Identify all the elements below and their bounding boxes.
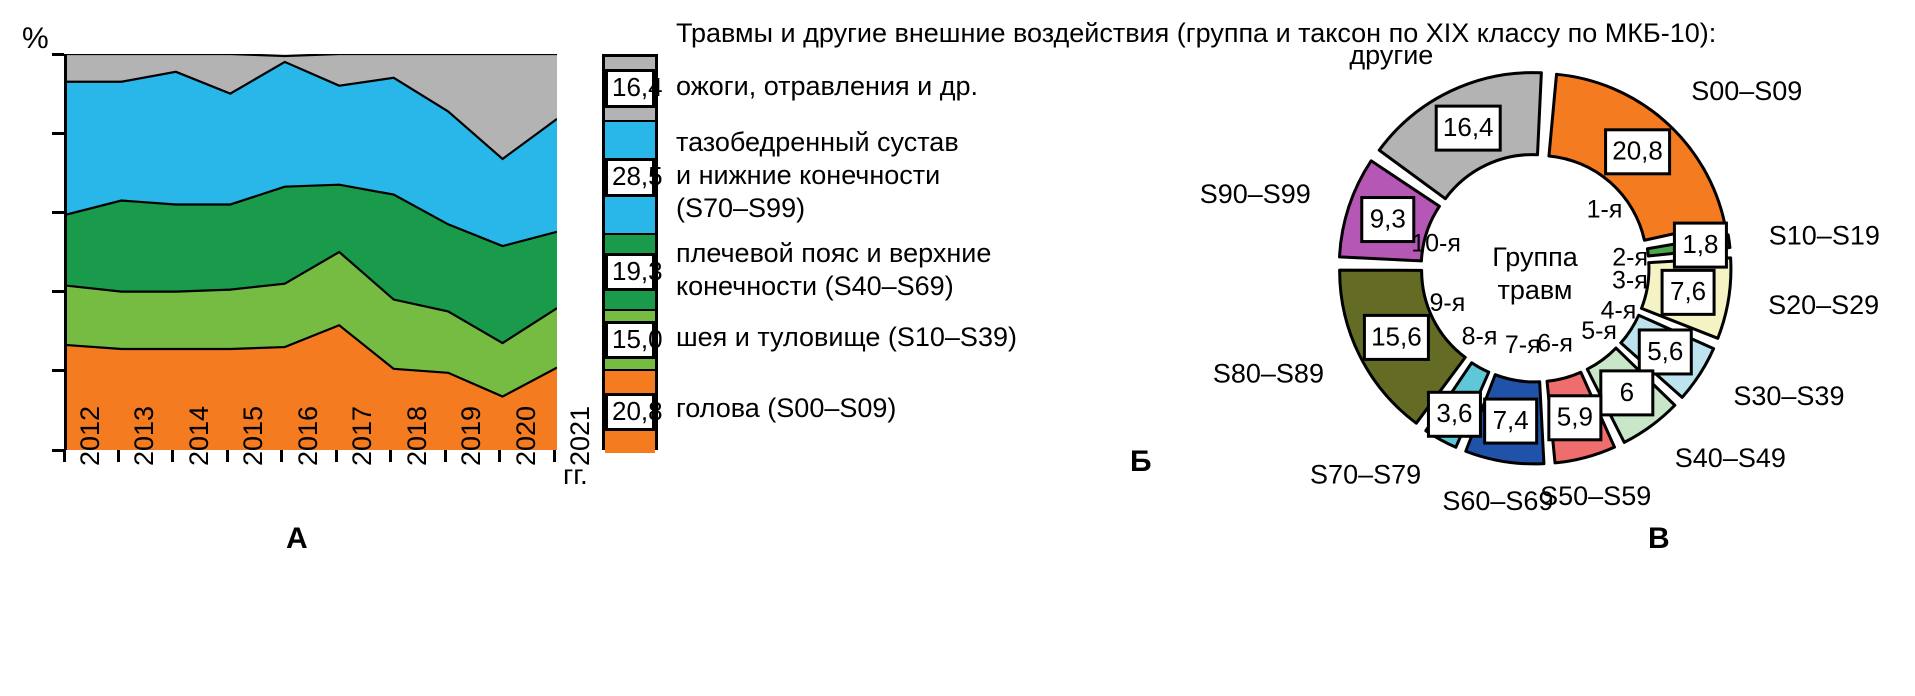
figure-root: % 020406080100 2012201320142015201620172… (0, 0, 1915, 696)
x-axis-unit-label: гг. (563, 459, 588, 491)
x-tick-label: 2013 (129, 406, 160, 466)
panel-c-donut-chart: 20,81,87,65,665,97,43,615,69,316,4S00–S0… (1190, 36, 1915, 556)
donut-category-label: S80–S89 (1213, 359, 1324, 389)
y-tick-mark (52, 369, 64, 372)
donut-rank-label: 8-я (1462, 322, 1498, 350)
y-tick-mark (52, 53, 64, 56)
donut-category-label: S70–S79 (1310, 460, 1421, 490)
x-tick-mark (335, 450, 338, 462)
y-tick-mark (52, 132, 64, 135)
donut-category-label: S40–S49 (1675, 443, 1786, 473)
x-tick-mark (171, 450, 174, 462)
donut-category-label: S60–S69 (1442, 486, 1553, 516)
donut-value: 3,6 (1436, 398, 1472, 428)
x-tick-label: 2020 (511, 406, 542, 466)
legend-swatch: 20,8 (605, 371, 655, 453)
legend-label: тазобедренный сустав и нижние конечности… (676, 126, 959, 225)
x-tick-mark (444, 450, 447, 462)
donut-value: 5,6 (1647, 336, 1683, 366)
donut-value: 1,8 (1682, 229, 1718, 259)
legend-value: 16,4 (605, 69, 655, 107)
donut-value: 7,6 (1670, 276, 1706, 306)
x-tick-mark (280, 450, 283, 462)
x-tick-label: 2016 (293, 406, 324, 466)
donut-category-label: S00–S09 (1691, 76, 1802, 106)
panel-a-area-chart: % 020406080100 2012201320142015201620172… (0, 0, 680, 696)
y-tick-mark (52, 211, 64, 214)
x-tick-mark (553, 450, 556, 462)
legend-label: ожоги, отравления и др. (676, 70, 978, 103)
donut-value: 20,8 (1612, 136, 1663, 166)
donut-category-label: S90–S99 (1200, 179, 1311, 209)
donut-rank-label: 7-я (1505, 331, 1541, 359)
legend-label: шея и туловище (S10–S39) (676, 321, 1017, 354)
donut-category-label: S10–S19 (1769, 221, 1880, 251)
legend-swatch: 19,3 (605, 235, 655, 311)
legend-swatch: 16,4 (605, 57, 655, 122)
panel-c-letter: В (1648, 522, 1670, 556)
y-axis-unit: % (22, 22, 49, 56)
donut-rank-label: 3-я (1612, 266, 1648, 294)
x-tick-mark (226, 450, 229, 462)
donut-svg: 20,81,87,65,665,97,43,615,69,316,4S00–S0… (1190, 36, 1915, 536)
donut-value: 7,4 (1493, 405, 1529, 435)
donut-category-label: S50–S59 (1540, 481, 1651, 511)
donut-rank-label: 9-я (1429, 289, 1465, 317)
legend-stack: 16,428,519,315,020,8 (602, 54, 658, 450)
legend-value: 28,5 (605, 158, 655, 196)
donut-center-line-1: Группа (1492, 242, 1579, 272)
donut-rank-label: 6-я (1537, 329, 1573, 357)
panel-b-letter: Б (1130, 445, 1152, 479)
x-tick-label: 2012 (75, 406, 106, 466)
x-tick-label: 2021 (565, 406, 596, 466)
stacked-area-svg (67, 54, 557, 450)
legend-label: плечевой пояс и верхние конечности (S40–… (676, 237, 991, 303)
x-tick-mark (498, 450, 501, 462)
donut-value: 9,3 (1370, 203, 1406, 233)
legend-value: 15,0 (605, 321, 655, 359)
panel-a-letter: А (286, 522, 308, 556)
donut-value: 16,4 (1443, 112, 1494, 142)
donut-value: 5,9 (1557, 402, 1593, 432)
x-tick-mark (389, 450, 392, 462)
donut-rank-label: 10-я (1411, 230, 1461, 258)
legend-swatch: 15,0 (605, 311, 655, 370)
y-tick-mark (52, 290, 64, 293)
x-tick-mark (117, 450, 120, 462)
legend-swatch: 28,5 (605, 122, 655, 235)
x-tick-label: 2017 (347, 406, 378, 466)
donut-category-label: S30–S39 (1733, 381, 1844, 411)
legend-label: голова (S00–S09) (676, 392, 896, 425)
x-tick-label: 2014 (184, 406, 215, 466)
x-tick-label: 2019 (456, 406, 487, 466)
x-tick-label: 2018 (402, 406, 433, 466)
donut-value: 15,6 (1371, 321, 1422, 351)
donut-value: 6 (1620, 377, 1634, 407)
legend-value: 19,3 (605, 253, 655, 291)
donut-rank-label: 5-я (1581, 317, 1617, 345)
donut-center-line-2: травм (1497, 275, 1572, 305)
x-tick-mark (63, 450, 66, 462)
area-plot-area (64, 54, 554, 450)
x-tick-label: 2015 (238, 406, 269, 466)
legend-value: 20,8 (605, 393, 655, 431)
donut-rank-label: 1-я (1587, 196, 1623, 224)
donut-category-label: S20–S29 (1768, 290, 1879, 320)
donut-category-label: другие (1349, 40, 1433, 70)
